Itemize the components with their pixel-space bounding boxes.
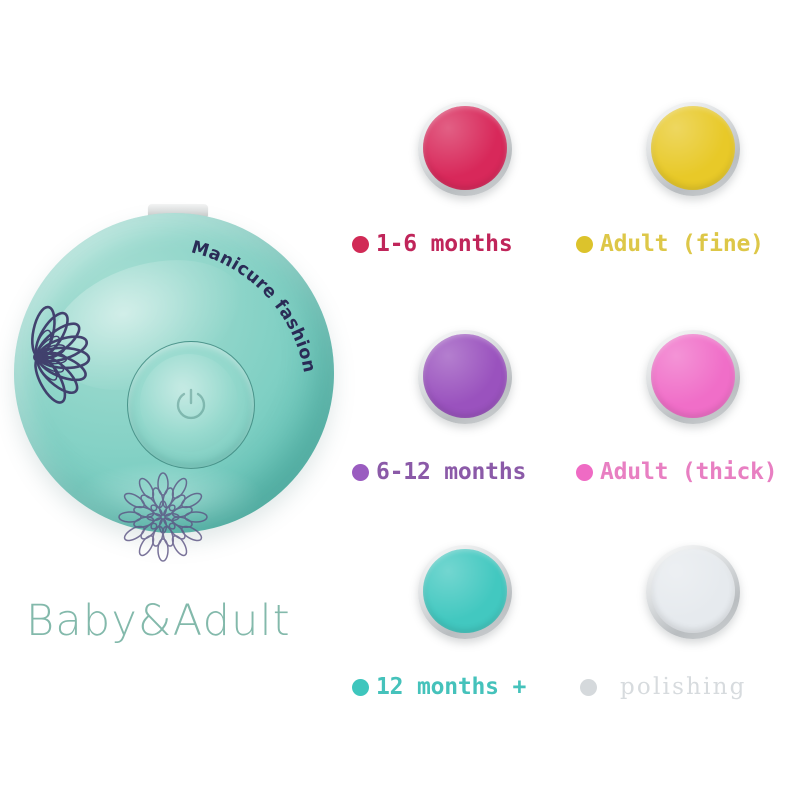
pad-bullet-icon: [576, 464, 593, 481]
nail-trimmer-device: Manicure fashion: [0, 180, 360, 600]
pad-label-text: Adult (thick): [600, 459, 777, 485]
power-icon: [174, 387, 208, 423]
pad-label: 6-12 months: [352, 452, 576, 492]
pad-label: Adult (thick): [576, 452, 800, 492]
pad-face: [423, 549, 507, 633]
pad-bullet-icon: [352, 464, 369, 481]
pad-disc: [646, 102, 740, 196]
pad-bullet-icon: [576, 236, 593, 253]
pad-item-6-12-months[interactable]: 6-12 months: [352, 324, 576, 444]
pad-label-text: 1-6 months: [376, 231, 512, 257]
pad-disc: [418, 102, 512, 196]
pad-label-text: 12 months +: [376, 674, 526, 700]
pad-item-12-months-plus[interactable]: 12 months +: [352, 539, 576, 659]
pad-item-polishing[interactable]: polishing: [576, 539, 800, 659]
power-button[interactable]: [127, 341, 255, 469]
pad-disc: [646, 545, 740, 639]
pad-label: 1-6 months: [352, 224, 576, 264]
pad-row: 12 months + polishing: [352, 539, 800, 729]
pad-face: [423, 334, 507, 418]
pad-label: 12 months +: [352, 667, 576, 707]
pad-face: [651, 549, 735, 633]
pad-disc: [646, 330, 740, 424]
pad-face: [651, 106, 735, 190]
pad-face: [423, 106, 507, 190]
flower-pattern-small-icon: [117, 471, 209, 563]
pad-item-adult-fine[interactable]: Adult (fine): [576, 96, 800, 216]
pad-disc: [418, 330, 512, 424]
baby-adult-caption: Baby&Adult: [26, 596, 291, 646]
product-image: Manicure fashion Baby&Adult 1-6 months: [0, 0, 800, 800]
pad-label-text: Adult (fine): [600, 231, 764, 257]
pad-row: 1-6 months Adult (fine): [352, 96, 800, 286]
pad-face: [651, 334, 735, 418]
pad-label-text: polishing: [620, 674, 747, 700]
device-body: [14, 213, 334, 533]
pad-label: Adult (fine): [576, 224, 800, 264]
pad-bullet-icon: [580, 679, 597, 696]
pad-disc: [418, 545, 512, 639]
pad-label-text: 6-12 months: [376, 459, 526, 485]
pad-row: 6-12 months Adult (thick): [352, 324, 800, 514]
sanding-pad-grid: 1-6 months Adult (fine) 6: [352, 96, 800, 712]
pad-bullet-icon: [352, 236, 369, 253]
pad-item-adult-thick[interactable]: Adult (thick): [576, 324, 800, 444]
pad-bullet-icon: [352, 679, 369, 696]
pad-item-1-6-months[interactable]: 1-6 months: [352, 96, 576, 216]
pad-label: polishing: [576, 667, 800, 707]
